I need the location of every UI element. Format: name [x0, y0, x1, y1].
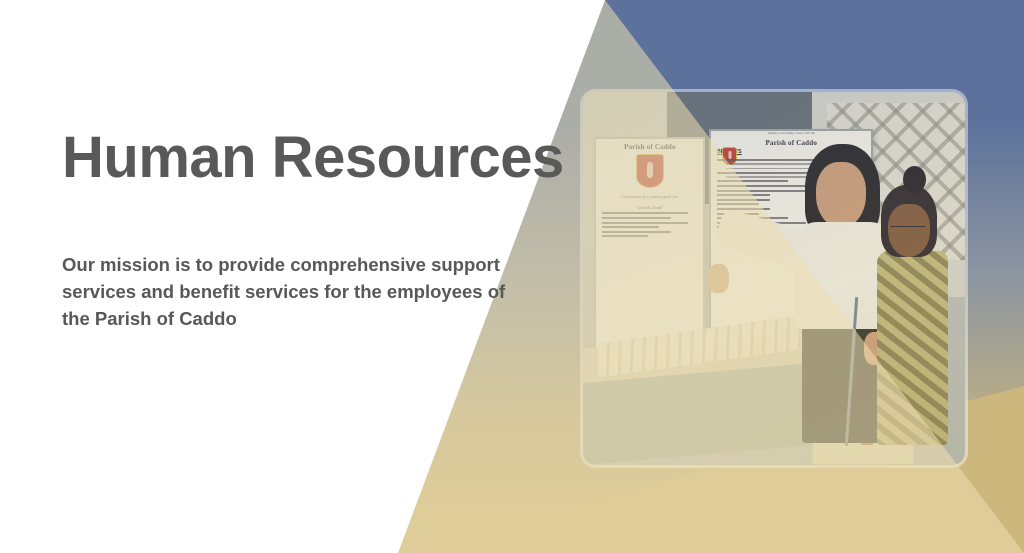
- glasses-icon: [890, 226, 927, 238]
- text-line: [717, 180, 788, 182]
- text-column: Human Resources Our mission is to provid…: [62, 128, 542, 332]
- photo-person-pointing-hand: [708, 264, 729, 294]
- parish-crest-icon: [722, 147, 737, 165]
- poster-left-script-2: Good Is Good!: [596, 205, 703, 210]
- photo-person-face: [816, 162, 866, 228]
- hero-photo: Parish of Caddo Celebration of a journey…: [583, 92, 965, 465]
- poster-left-title: Parish of Caddo: [596, 139, 703, 151]
- text-line: [717, 199, 770, 201]
- text-line: [602, 212, 687, 214]
- parish-crest-icon: [636, 154, 664, 188]
- text-line: [602, 226, 659, 228]
- poster-left-script-1: Celebration of a journey gone free: [596, 194, 703, 199]
- text-line: [717, 203, 759, 205]
- poster-left-body-lines: [596, 212, 703, 237]
- page-title: Human Resources: [62, 128, 542, 189]
- photo-visitor-top: [877, 251, 949, 444]
- text-line: [602, 231, 670, 233]
- photo-person-visitor: [873, 174, 965, 450]
- text-line: [717, 194, 770, 196]
- mission-statement: Our mission is to provide comprehensive …: [62, 189, 532, 332]
- text-line: [717, 208, 770, 210]
- hr-banner: Parish of Caddo Celebration of a journey…: [0, 0, 1024, 553]
- hero-photo-card: Parish of Caddo Celebration of a journey…: [583, 92, 965, 465]
- text-line: [602, 217, 670, 219]
- text-line: [602, 235, 648, 237]
- text-line: [602, 222, 687, 224]
